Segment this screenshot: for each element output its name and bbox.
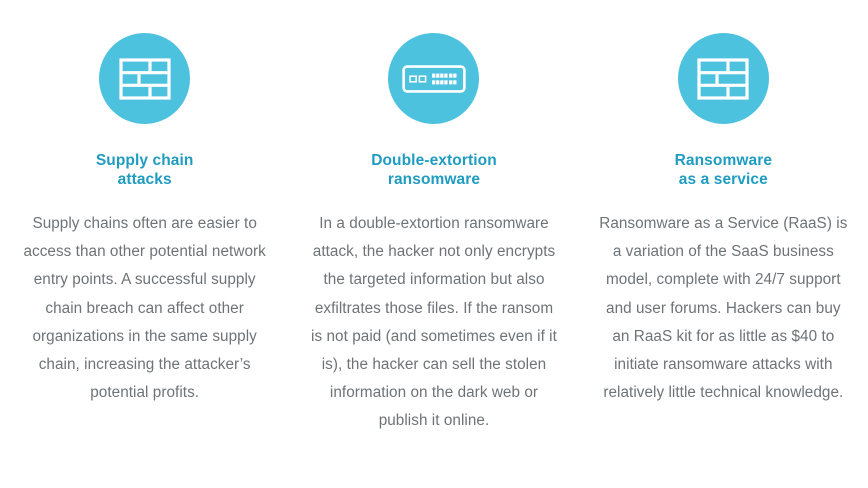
- card-title-line-2: as a service: [675, 170, 772, 189]
- icon-badge-ransomware-as-a-service: [678, 33, 769, 124]
- card-title-line-1: Double-extortion: [371, 151, 497, 170]
- card-title-line-1: Supply chain: [96, 151, 194, 170]
- brick-wall-firewall-icon: [697, 58, 749, 100]
- card-title-supply-chain-attacks: Supply chain attacks: [96, 151, 194, 189]
- icon-badge-double-extortion-ransomware: [388, 33, 479, 124]
- card-title-line-2: ransomware: [371, 170, 497, 189]
- network-switch-icon: [402, 65, 466, 93]
- brick-wall-firewall-icon: [119, 58, 171, 100]
- card-title-ransomware-as-a-service: Ransomware as a service: [675, 151, 772, 189]
- card-supply-chain-attacks: Supply chain attacks Supply chains often…: [0, 33, 289, 407]
- card-double-extortion-ransomware: Double-extortion ransomware In a double-…: [289, 33, 578, 436]
- card-title-line-1: Ransomware: [675, 151, 772, 170]
- card-title-double-extortion-ransomware: Double-extortion ransomware: [371, 151, 497, 189]
- card-body-supply-chain-attacks: Supply chains often are easier to access…: [20, 210, 269, 407]
- three-column-infographic: Supply chain attacks Supply chains often…: [0, 0, 868, 488]
- card-body-ransomware-as-a-service: Ransomware as a Service (RaaS) is a vari…: [599, 210, 848, 407]
- card-body-double-extortion-ransomware: In a double-extortion ransomware attack,…: [309, 210, 558, 436]
- card-title-line-2: attacks: [96, 170, 194, 189]
- card-ransomware-as-a-service: Ransomware as a service Ransomware as a …: [579, 33, 868, 407]
- icon-badge-supply-chain-attacks: [99, 33, 190, 124]
